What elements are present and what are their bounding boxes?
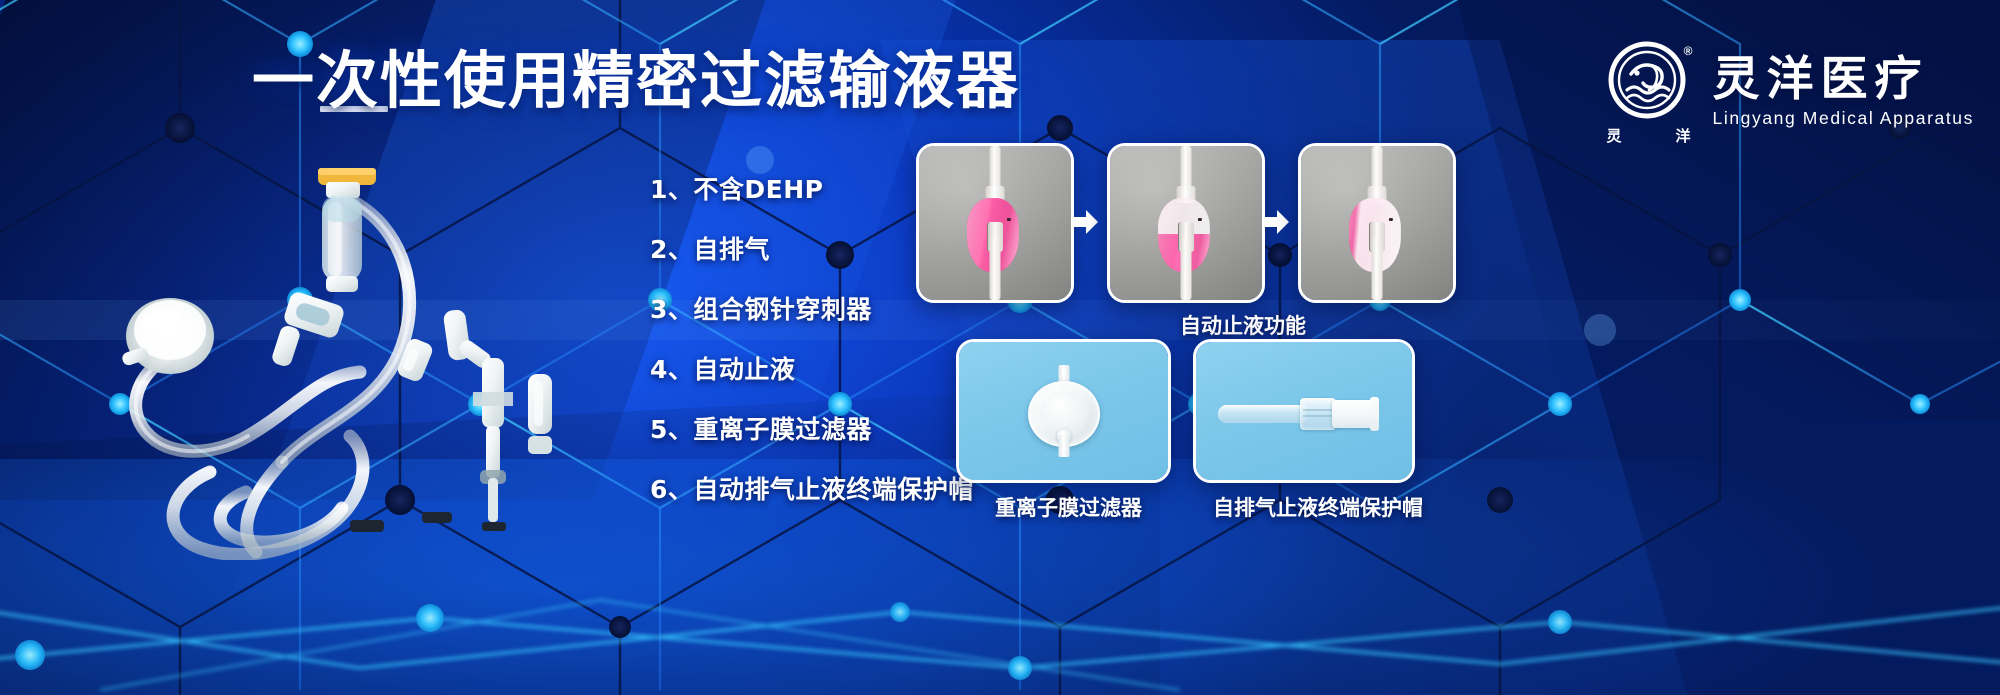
detail-caption-ion-membrane-filter: 重离子膜过滤器	[995, 492, 1142, 522]
logo-emblem-char-2: 洋	[1676, 125, 1691, 146]
brand-name-en: Lingyang Medical Apparatus	[1713, 108, 1974, 129]
promo-banner: 一次性使用精密过滤输液器 ® 灵 洋 灵洋医疗 Lingyang Medical…	[0, 0, 2000, 695]
flow-regulator	[270, 290, 346, 368]
tube-lower	[1372, 238, 1383, 300]
drip-chamber	[322, 196, 362, 292]
brand-name-block: 灵洋医疗 Lingyang Medical Apparatus	[1713, 55, 1974, 130]
sequence-photo-1[interactable]	[916, 143, 1074, 303]
terminal-cap	[528, 374, 552, 454]
detail-photo-ion-membrane-filter[interactable]	[956, 339, 1171, 483]
steel-needle-assembly	[473, 358, 513, 531]
spike-assembly	[318, 168, 376, 198]
feature-item-6: 6、自动排气止液终端保护帽	[650, 470, 974, 506]
page-title: 一次性使用精密过滤输液器	[252, 48, 1020, 113]
tube-lower	[1181, 238, 1192, 300]
feature-item-4: 4、自动止液	[650, 350, 974, 386]
arrow-right-icon	[1258, 205, 1292, 239]
tube-lower	[990, 238, 1001, 300]
brand-name-cn: 灵洋医疗	[1713, 55, 1974, 106]
brand-logo[interactable]: ® 灵 洋 灵洋医疗 Lingyang Medical Apparatus	[1607, 40, 1974, 144]
detail-caption-terminal-cap: 自排气止液终端保护帽	[1213, 492, 1423, 522]
tube-clamps	[350, 512, 452, 532]
feature-item-5: 5、重离子膜过滤器	[650, 410, 974, 446]
sequence-caption: 自动止液功能	[1180, 310, 1306, 340]
ion-membrane-filter-device	[1025, 365, 1103, 457]
detail-photo-terminal-cap[interactable]	[1193, 339, 1415, 483]
sequence-photo-2[interactable]	[1107, 143, 1265, 303]
arrow-right-icon	[1067, 205, 1101, 239]
sequence-photo-3[interactable]	[1298, 143, 1456, 303]
terminal-protective-cap-device	[1218, 391, 1390, 437]
infusion-set-photo	[50, 140, 650, 560]
logo-emblem-char-1: 灵	[1607, 125, 1622, 146]
registered-trademark-icon: ®	[1684, 44, 1693, 58]
logo-emblem-icon: ® 灵 洋	[1607, 40, 1691, 144]
logo-emblem-subtext: 灵 洋	[1607, 125, 1691, 146]
air-filter-disc	[121, 298, 214, 374]
